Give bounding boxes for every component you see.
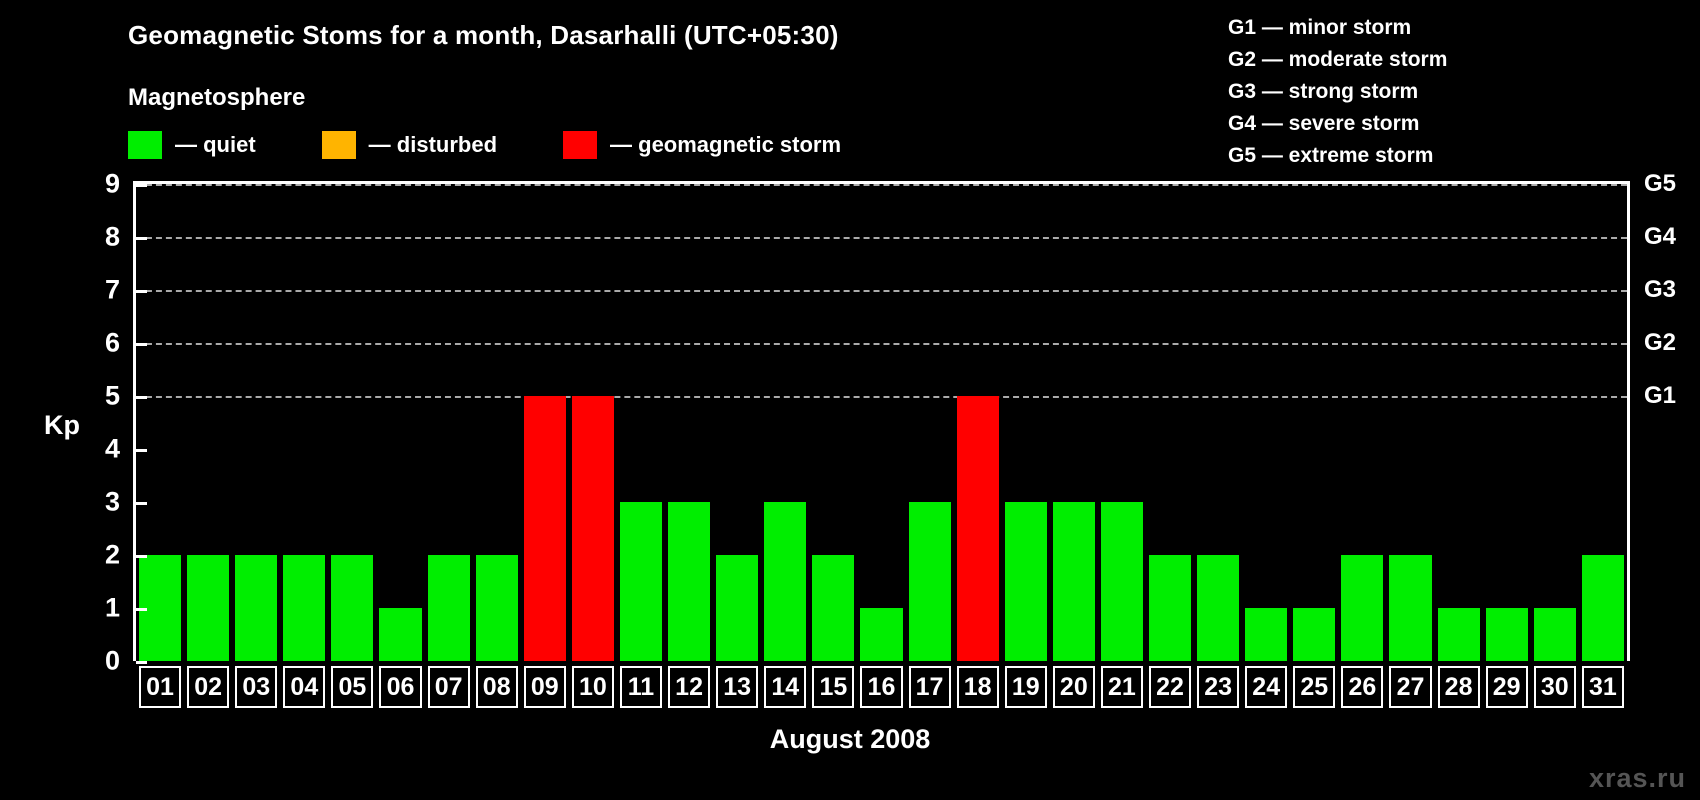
legend-swatch-quiet (128, 131, 162, 159)
day-label-25: 25 (1293, 666, 1335, 708)
y-tickmark-2 (136, 555, 147, 558)
magnetosphere-heading: Magnetosphere (128, 84, 305, 112)
day-label-03: 03 (235, 666, 277, 708)
bar-slot-08 (473, 184, 521, 661)
x-axis-label: August 2008 (0, 724, 1700, 755)
bar-slot-30 (1531, 184, 1579, 661)
g-scale-line-4: G4 — severe storm (1228, 108, 1447, 140)
bar-slot-18 (954, 184, 1002, 661)
bar-day-26[interactable] (1341, 555, 1383, 661)
bar-slot-16 (857, 184, 905, 661)
y-tick-7: 7 (105, 275, 120, 306)
bar-day-15[interactable] (812, 555, 854, 661)
day-label-29: 29 (1486, 666, 1528, 708)
day-label-08: 08 (476, 666, 518, 708)
bar-day-02[interactable] (187, 555, 229, 661)
bar-day-05[interactable] (331, 555, 373, 661)
day-label-01: 01 (139, 666, 181, 708)
day-label-13: 13 (716, 666, 758, 708)
bar-day-07[interactable] (428, 555, 470, 661)
bar-day-24[interactable] (1245, 608, 1287, 661)
day-label-07: 07 (428, 666, 470, 708)
bar-day-04[interactable] (283, 555, 325, 661)
bar-day-21[interactable] (1101, 502, 1143, 661)
bar-slot-21 (1098, 184, 1146, 661)
day-label-30: 30 (1534, 666, 1576, 708)
bar-day-03[interactable] (235, 555, 277, 661)
bar-day-16[interactable] (860, 608, 902, 661)
day-label-12: 12 (668, 666, 710, 708)
y-tick-8: 8 (105, 222, 120, 253)
bar-day-19[interactable] (1005, 502, 1047, 661)
y-tickmark-5 (136, 396, 147, 399)
bar-slot-25 (1290, 184, 1338, 661)
g-scale-line-5: G5 — extreme storm (1228, 140, 1447, 172)
day-label-19: 19 (1005, 666, 1047, 708)
y-tick-0: 0 (105, 646, 120, 677)
y-tick-4: 4 (105, 434, 120, 465)
bar-day-22[interactable] (1149, 555, 1191, 661)
bar-day-20[interactable] (1053, 502, 1095, 661)
bar-day-12[interactable] (668, 502, 710, 661)
bar-day-29[interactable] (1486, 608, 1528, 661)
legend-swatch-disturbed (322, 131, 356, 159)
g-tick-G2: G2 (1644, 329, 1676, 357)
g-scale-line-2: G2 — moderate storm (1228, 44, 1447, 76)
bar-slot-10 (569, 184, 617, 661)
bar-slot-12 (665, 184, 713, 661)
bar-day-27[interactable] (1389, 555, 1431, 661)
bar-slot-17 (906, 184, 954, 661)
bar-day-13[interactable] (716, 555, 758, 661)
day-label-06: 06 (379, 666, 421, 708)
bar-slot-27 (1386, 184, 1434, 661)
bar-day-31[interactable] (1582, 555, 1624, 661)
day-label-23: 23 (1197, 666, 1239, 708)
day-label-15: 15 (812, 666, 854, 708)
y-tickmark-7 (136, 290, 147, 293)
legend-item-storm: — geomagnetic storm (563, 131, 841, 159)
y-tickmark-8 (136, 237, 147, 240)
bar-day-30[interactable] (1534, 608, 1576, 661)
bar-day-25[interactable] (1293, 608, 1335, 661)
bar-slot-22 (1146, 184, 1194, 661)
day-label-14: 14 (764, 666, 806, 708)
y-tickmark-0 (136, 661, 147, 664)
y-tickmark-6 (136, 343, 147, 346)
watermark: xras.ru (1589, 763, 1686, 794)
legend-label-quiet: — quiet (175, 132, 256, 158)
plot-area (136, 184, 1627, 661)
g-tick-G3: G3 (1644, 276, 1676, 304)
legend-label-disturbed: — disturbed (369, 132, 497, 158)
y-tick-1: 1 (105, 593, 120, 624)
y-tickmark-3 (136, 502, 147, 505)
y-tickmark-9 (136, 184, 147, 187)
day-label-16: 16 (860, 666, 902, 708)
bar-day-18[interactable] (957, 396, 999, 661)
bar-series (136, 184, 1627, 661)
y-tick-9: 9 (105, 169, 120, 200)
bar-slot-06 (376, 184, 424, 661)
day-label-04: 04 (283, 666, 325, 708)
bar-day-09[interactable] (524, 396, 566, 661)
bar-slot-14 (761, 184, 809, 661)
g-scale-legend: G1 — minor stormG2 — moderate stormG3 — … (1228, 12, 1447, 172)
bar-day-08[interactable] (476, 555, 518, 661)
bar-day-10[interactable] (572, 396, 614, 661)
day-label-05: 05 (331, 666, 373, 708)
bar-slot-02 (184, 184, 232, 661)
bar-slot-05 (328, 184, 376, 661)
bar-day-28[interactable] (1438, 608, 1480, 661)
bar-slot-29 (1483, 184, 1531, 661)
day-label-10: 10 (572, 666, 614, 708)
day-label-11: 11 (620, 666, 662, 708)
day-label-28: 28 (1438, 666, 1480, 708)
g-tick-G1: G1 (1644, 382, 1676, 410)
g-tick-G5: G5 (1644, 170, 1676, 198)
y-axis-label: Kp (44, 410, 80, 441)
day-label-27: 27 (1389, 666, 1431, 708)
bar-slot-09 (521, 184, 569, 661)
y-tickmark-4 (136, 449, 147, 452)
bar-slot-15 (809, 184, 857, 661)
bar-day-14[interactable] (764, 502, 806, 661)
legend-swatch-storm (563, 131, 597, 159)
y-tick-2: 2 (105, 540, 120, 571)
bar-day-11[interactable] (620, 502, 662, 661)
bar-slot-23 (1194, 184, 1242, 661)
magnetosphere-legend: — quiet— disturbed— geomagnetic storm (128, 131, 907, 159)
bar-slot-01 (136, 184, 184, 661)
bar-slot-13 (713, 184, 761, 661)
page-title: Geomagnetic Stoms for a month, Dasarhall… (128, 20, 839, 51)
day-label-26: 26 (1341, 666, 1383, 708)
day-label-17: 17 (909, 666, 951, 708)
day-label-09: 09 (524, 666, 566, 708)
y-tick-5: 5 (105, 381, 120, 412)
y-tick-6: 6 (105, 328, 120, 359)
day-label-20: 20 (1053, 666, 1095, 708)
y-axis-tick-labels: 0123456789 (78, 184, 120, 661)
day-label-22: 22 (1149, 666, 1191, 708)
y-tickmark-1 (136, 608, 147, 611)
bar-day-06[interactable] (379, 608, 421, 661)
day-label-row: 0102030405060708091011121314151617181920… (136, 666, 1627, 708)
bar-slot-19 (1002, 184, 1050, 661)
g-scale-line-3: G3 — strong storm (1228, 76, 1447, 108)
bar-day-23[interactable] (1197, 555, 1239, 661)
bar-slot-28 (1435, 184, 1483, 661)
y-tick-3: 3 (105, 487, 120, 518)
bar-slot-03 (232, 184, 280, 661)
bar-slot-24 (1242, 184, 1290, 661)
bar-slot-11 (617, 184, 665, 661)
bar-slot-20 (1050, 184, 1098, 661)
bar-day-17[interactable] (909, 502, 951, 661)
g-tick-G4: G4 (1644, 223, 1676, 251)
day-label-21: 21 (1101, 666, 1143, 708)
bar-slot-07 (425, 184, 473, 661)
legend-label-storm: — geomagnetic storm (610, 132, 841, 158)
chart-page: Geomagnetic Stoms for a month, Dasarhall… (0, 0, 1700, 800)
day-label-24: 24 (1245, 666, 1287, 708)
bar-slot-31 (1579, 184, 1627, 661)
day-label-18: 18 (957, 666, 999, 708)
bar-slot-26 (1338, 184, 1386, 661)
day-label-31: 31 (1582, 666, 1624, 708)
legend-item-quiet: — quiet (128, 131, 256, 159)
day-label-02: 02 (187, 666, 229, 708)
bar-slot-04 (280, 184, 328, 661)
g-axis-tick-labels: G1G2G3G4G5 (1644, 184, 1696, 661)
g-scale-line-1: G1 — minor storm (1228, 12, 1447, 44)
legend-item-disturbed: — disturbed (322, 131, 497, 159)
